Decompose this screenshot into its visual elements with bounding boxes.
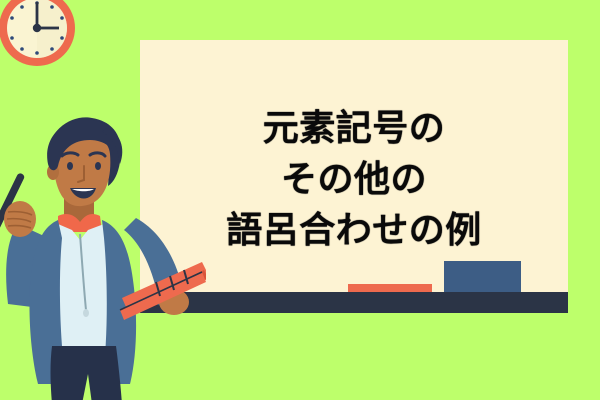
shirt [55, 224, 110, 352]
eye-right [95, 162, 101, 170]
board-line-2: その他の [281, 156, 427, 203]
board-line-1: 元素記号の [263, 105, 446, 152]
board-line-3: 語呂合わせの例 [226, 207, 482, 254]
clock-icon [0, 0, 77, 70]
blue-book [442, 259, 523, 293]
illustration-scene: 元素記号の その他の 語呂合わせの例 [0, 0, 600, 400]
teacher-figure [0, 112, 206, 400]
wall-clock [0, 0, 77, 70]
drawstring-knot [83, 309, 89, 317]
pants [51, 346, 123, 400]
eye-left [67, 162, 73, 170]
teacher-illustration [0, 112, 206, 400]
